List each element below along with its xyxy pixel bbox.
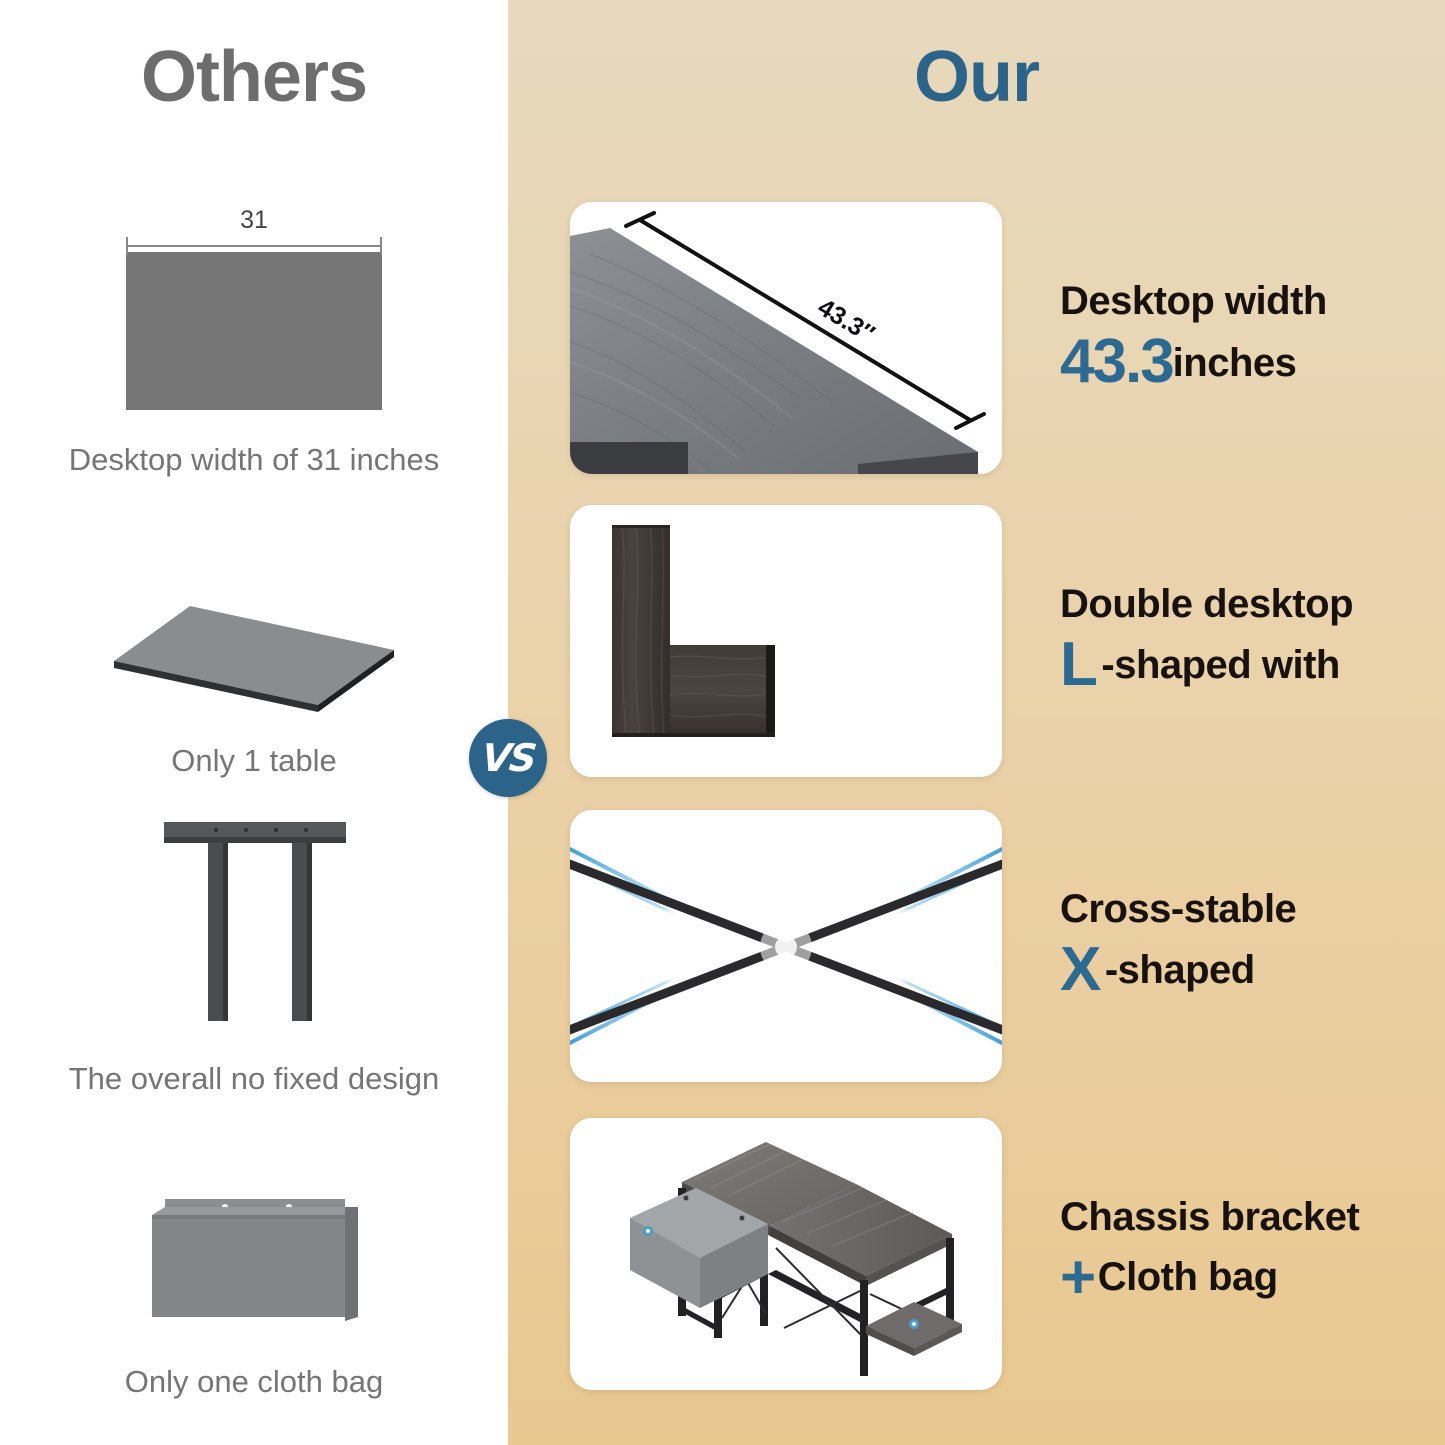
others-caption-1: Desktop width of 31 inches bbox=[0, 442, 508, 478]
x-cross-brace-icon bbox=[570, 810, 1002, 1082]
dimension-value-label: 31 bbox=[126, 206, 382, 235]
highlight-plus: + bbox=[1060, 1243, 1098, 1312]
single-tabletop-slab-icon bbox=[94, 598, 414, 713]
our-text-2: Double desktop L-shaped with bbox=[1060, 583, 1353, 698]
card-x-cross-brace bbox=[570, 810, 1002, 1082]
our-item-double-desktop: Double desktop L-shaped with bbox=[508, 505, 1445, 777]
others-item-single-table: Only 1 table bbox=[0, 598, 508, 779]
card-l-desk-cloth-bag bbox=[570, 1118, 1002, 1390]
others-caption-4: Only one cloth bag bbox=[0, 1364, 508, 1400]
dimension-line bbox=[126, 245, 382, 247]
wood-desktop-angled-icon: 43.3″ bbox=[570, 202, 1002, 474]
dimension-bar-31: 31 bbox=[126, 212, 382, 252]
single-cloth-bag-icon bbox=[139, 1195, 369, 1330]
cloth-bag-suffix: Cloth bag bbox=[1098, 1255, 1278, 1299]
our-item-chassis-bracket: Chassis bracket +Cloth bag bbox=[508, 1118, 1445, 1390]
card-l-shaped-desktop bbox=[570, 505, 1002, 777]
others-caption-2: Only 1 table bbox=[0, 743, 508, 779]
unbraced-table-frame-icon bbox=[154, 818, 354, 1033]
card-wood-desktop: 43.3″ bbox=[570, 202, 1002, 474]
our-text-4: Chassis bracket +Cloth bag bbox=[1060, 1196, 1359, 1311]
others-title: Others bbox=[0, 36, 508, 118]
l-desk-with-cloth-bag-icon bbox=[570, 1118, 1002, 1390]
our-title: Our bbox=[508, 36, 1445, 118]
our-line2-4: +Cloth bag bbox=[1060, 1245, 1359, 1311]
comparison-infographic: Others 31 Desktop width of 31 inches Onl bbox=[0, 0, 1445, 1445]
others-panel: Others 31 Desktop width of 31 inches Onl bbox=[0, 0, 508, 1445]
our-line1-3: Cross-stable bbox=[1060, 888, 1296, 931]
others-item-no-fixed-design: The overall no fixed design bbox=[0, 818, 508, 1097]
highlight-x: X bbox=[1060, 935, 1105, 1004]
our-text-1: Desktop width 43.3inches bbox=[1060, 280, 1327, 395]
dimension-tick-left bbox=[126, 237, 128, 255]
x-shaped-suffix: -shaped bbox=[1105, 948, 1255, 992]
vs-badge: VS bbox=[469, 719, 547, 797]
our-line1-4: Chassis bracket bbox=[1060, 1196, 1359, 1239]
our-line2-3: X-shaped bbox=[1060, 937, 1296, 1003]
our-line1-1: Desktop width bbox=[1060, 280, 1327, 323]
dimension-tick-right bbox=[380, 237, 382, 255]
our-item-desktop-width: 43.3″ Desktop width 43.3inches bbox=[508, 202, 1445, 474]
our-line2-2: L-shaped with bbox=[1060, 632, 1353, 698]
gray-rectangle-desktop-icon bbox=[126, 252, 382, 410]
l-shaped-double-desktop-icon bbox=[570, 505, 1002, 777]
others-caption-3: The overall no fixed design bbox=[0, 1061, 508, 1097]
highlight-l: L bbox=[1060, 630, 1101, 699]
others-item-cloth-bag: Only one cloth bag bbox=[0, 1195, 508, 1400]
vs-label: VS bbox=[479, 736, 536, 780]
our-line2-1: 43.3inches bbox=[1060, 329, 1327, 395]
our-line1-2: Double desktop bbox=[1060, 583, 1353, 626]
our-panel: Our bbox=[508, 0, 1445, 1445]
others-item-desktop-width: 31 Desktop width of 31 inches bbox=[0, 212, 508, 478]
inches-suffix: inches bbox=[1173, 341, 1297, 385]
highlight-43-3: 43.3 bbox=[1060, 327, 1173, 396]
our-text-3: Cross-stable X-shaped bbox=[1060, 888, 1296, 1003]
our-item-cross-stable: Cross-stable X-shaped bbox=[508, 810, 1445, 1082]
l-shaped-suffix: -shaped with bbox=[1101, 643, 1339, 687]
